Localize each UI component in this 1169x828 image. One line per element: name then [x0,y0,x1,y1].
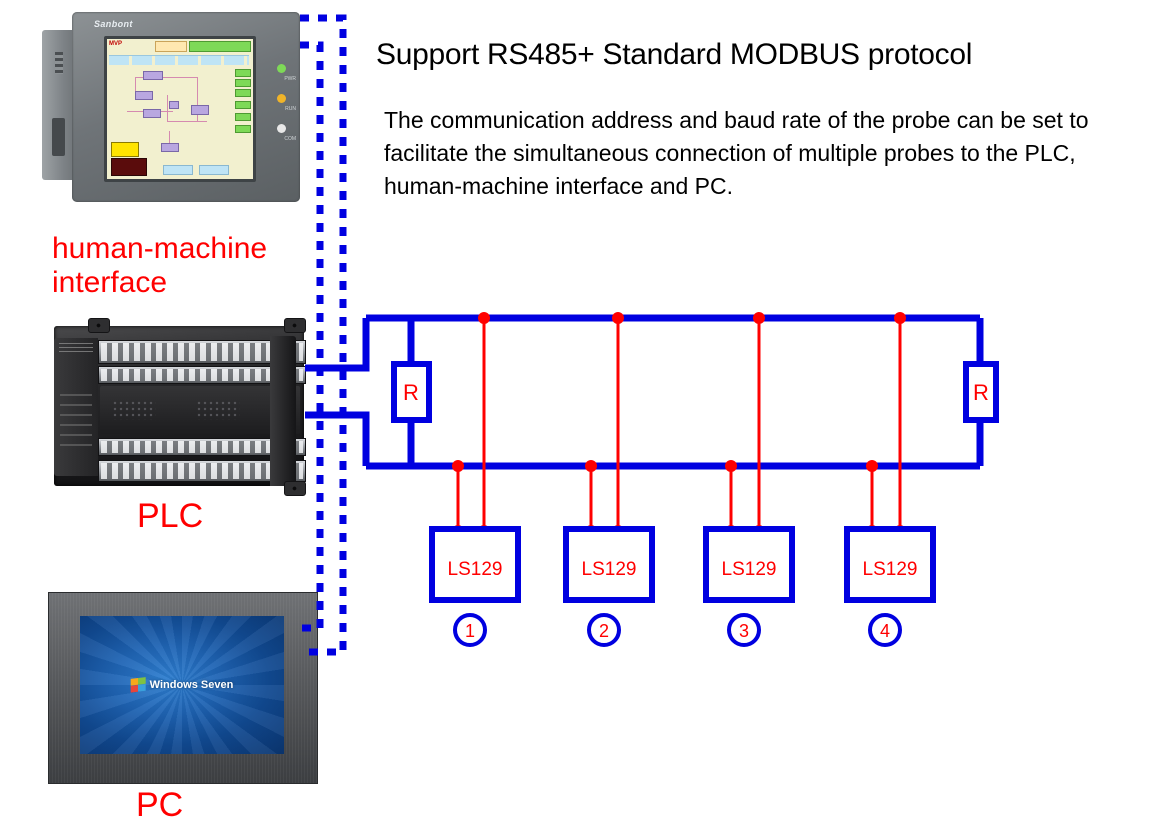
hmi-screen-tag [155,41,187,52]
terminator-right-box [966,364,996,420]
junction-dot [894,312,906,324]
plc-mounting-ear [284,318,306,333]
ls129-box-4 [847,529,933,600]
hmi-mimic-block [169,101,179,109]
ls129-device-4: LS129 4 [847,529,933,645]
ls129-number-circle-3 [729,615,759,645]
hmi-readout-block [111,158,147,176]
hmi-alarm-block [111,142,139,157]
hmi-screen-status-bar [189,41,251,52]
hmi-mimic-block [143,71,163,80]
plc-brand-text [59,343,93,355]
ls129-device-2: LS129 2 [566,529,652,645]
ls129-devices: LS129 1 LS129 2 LS129 3 LS129 4 [432,529,933,645]
hmi-mimic-block [135,91,153,100]
hmi-led-com-label: COM [284,136,296,142]
hmi-port-icon [52,118,65,156]
ls129-box-2 [566,529,652,600]
plc-body [54,326,304,486]
terminal-dot [612,525,624,537]
ls129-device-1: LS129 1 [432,529,518,645]
terminator-left-box [394,364,429,420]
junction-dot [612,312,624,324]
hmi-screen: MVP [107,39,253,179]
terminal-dot [585,525,597,537]
plc-side-block [270,336,296,486]
red-drop-wires [458,318,900,532]
hmi-status-led [235,101,251,109]
hmi-status-led [235,69,251,77]
page-title: Support RS485+ Standard MODBUS protocol [376,38,1076,72]
plc-module-icon [40,318,320,498]
hmi-led-run-label: RUN [285,106,296,112]
description-paragraph: The communication address and baud rate … [384,104,1154,203]
rs485-bus-rails [366,318,980,466]
junction-dot [478,312,490,324]
hmi-brand-logo: Sanbont [94,19,133,29]
ls129-number-2: 2 [599,621,609,641]
terminal-dot [452,525,464,537]
hmi-status-led [235,89,251,97]
ls129-label-1: LS129 [448,559,503,580]
terminal-dot [753,525,765,537]
hmi-panel-icon: Sanbont MVP [42,8,314,213]
plc-cpu-column [54,338,98,476]
hmi-led-com [277,124,286,133]
plc-vent-icon [196,400,240,420]
hmi-vent-icon [55,52,63,74]
device-label-plc: PLC [137,497,203,535]
hmi-mimic-block [143,109,161,118]
ls129-label-4: LS129 [863,559,918,580]
hmi-led-power [277,64,286,73]
plc-mounting-ear [88,318,110,333]
terminal-dot [725,525,737,537]
hmi-led-run [277,94,286,103]
terminator-right-label: R [973,380,989,405]
terminator-left: R [394,318,429,466]
hmi-screen-button [163,165,193,175]
ls129-label-3: LS129 [722,559,777,580]
ls129-box-1 [432,529,518,600]
hmi-screen-button-row [109,55,249,65]
junction-dot [585,460,597,472]
ls129-device-3: LS129 3 [706,529,792,645]
hmi-mimic-wire [167,121,207,122]
terminator-right: R [966,318,996,466]
terminator-left-label: R [403,380,419,405]
ls129-number-circle-4 [870,615,900,645]
terminal-dot [866,525,878,537]
device-label-hmi: human-machine interface [52,232,322,299]
plc-vent-icon [112,400,156,420]
hmi-bezel: Sanbont MVP [72,12,300,202]
junction-dot [725,460,737,472]
junction-dot [753,312,765,324]
pc-os-logo: Windows Seven [131,678,234,692]
device-label-pc: PC [136,786,183,824]
junction-dot [866,460,878,472]
ls129-number-3: 3 [739,621,749,641]
hmi-status-led [235,79,251,87]
junction-dots [452,312,906,537]
plc-mounting-ear [284,481,306,496]
ls129-box-3 [706,529,792,600]
hmi-mimic-block [191,105,209,115]
terminal-dot [478,525,490,537]
diagram-page: Support RS485+ Standard MODBUS protocol … [0,0,1169,828]
hmi-screen-title: MVP [109,41,151,50]
ls129-number-circle-1 [455,615,485,645]
ls129-label-2: LS129 [582,559,637,580]
plc-led-list [60,394,92,452]
hmi-screen-frame: MVP [104,36,256,182]
hmi-mimic-wire [167,95,168,121]
terminal-dot [894,525,906,537]
junction-dot [452,460,464,472]
pc-monitor-icon: Windows Seven [48,592,316,782]
ls129-number-circle-2 [589,615,619,645]
windows-flag-icon [131,677,146,693]
pc-display: Windows Seven [80,616,284,754]
hmi-status-led [235,113,251,121]
ls129-number-1: 1 [465,621,475,641]
hmi-led-power-label: PWR [284,76,296,82]
ls129-number-4: 4 [880,621,890,641]
hmi-status-led [235,125,251,133]
pc-os-label: Windows Seven [150,679,234,691]
hmi-mimic-block [161,143,179,152]
hmi-screen-button [199,165,229,175]
